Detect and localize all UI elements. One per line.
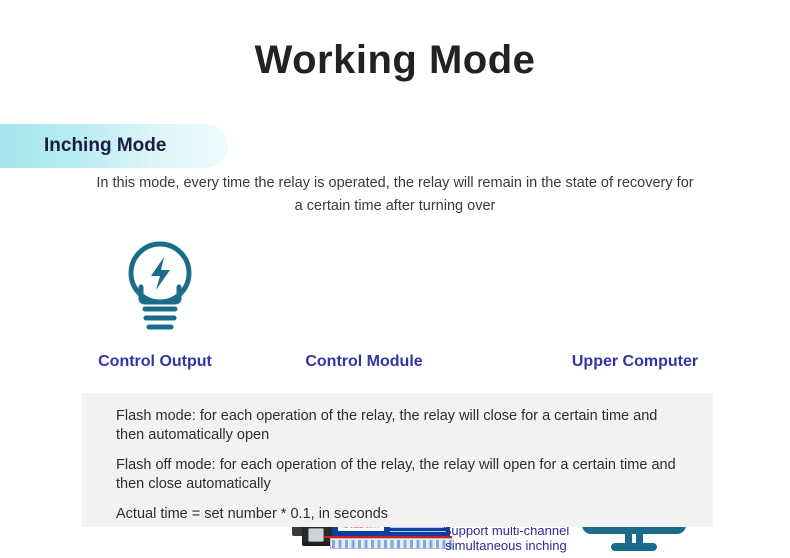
diagram-captions: Control Output Control Module Upper Comp… bbox=[0, 353, 790, 379]
note-flash-off-mode: Flash off mode: for each operation of th… bbox=[116, 456, 685, 494]
page-title: Working Mode bbox=[0, 38, 790, 83]
caption-control-output: Control Output bbox=[80, 353, 230, 371]
section-badge-label: Inching Mode bbox=[44, 135, 166, 157]
caption-control-module: Control Module bbox=[288, 353, 440, 371]
inching-command-subtitle: Support multi-channel simultaneous inchi… bbox=[428, 523, 584, 553]
lightbulb-bolt-icon bbox=[115, 235, 205, 335]
section-badge-inching-mode: Inching Mode bbox=[0, 124, 228, 168]
note-flash-mode: Flash mode: for each operation of the re… bbox=[116, 407, 685, 445]
caption-upper-computer: Upper Computer bbox=[554, 353, 716, 371]
note-actual-time: Actual time = set number * 0.1, in secon… bbox=[116, 505, 685, 524]
section-intro-text: In this mode, every time the relay is op… bbox=[95, 172, 695, 218]
notes-panel: Flash mode: for each operation of the re… bbox=[82, 393, 713, 527]
